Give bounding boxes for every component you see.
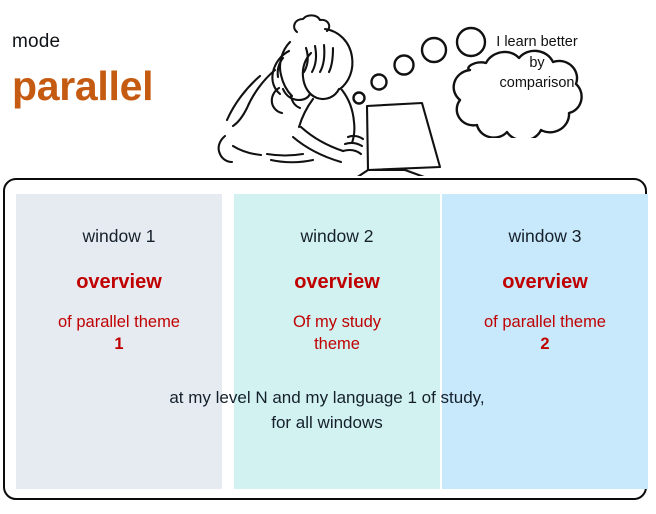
mode-label: mode [12, 32, 60, 51]
window-title-1: window 1 [16, 228, 222, 246]
window-heading-2: overview [234, 272, 440, 292]
window-subtitle-3-line-1: of parallel theme [442, 312, 648, 334]
thought-dot-4 [422, 38, 446, 62]
thought-dot-3 [395, 56, 414, 75]
window-panel-2[interactable]: window 2 overview Of my study theme [234, 194, 440, 489]
window-heading-1: overview [16, 272, 222, 292]
window-heading-3: overview [442, 272, 648, 292]
thought-bubble-line-2: by [462, 53, 612, 74]
thought-bubble-text: I learn better by comparison [462, 32, 612, 94]
window-subtitle-3: of parallel theme 2 [442, 312, 648, 356]
window-subtitle-2-line-2: theme [234, 334, 440, 356]
window-subtitle-1-line-2: 1 [16, 334, 222, 356]
thought-dot-1 [354, 93, 365, 104]
window-title-3: window 3 [442, 228, 648, 246]
thought-dot-2 [372, 75, 387, 90]
window-subtitle-3-line-2: 2 [442, 334, 648, 356]
window-subtitle-2-line-1: Of my study [234, 312, 440, 334]
window-subtitle-2: Of my study theme [234, 312, 440, 356]
mode-value: parallel [12, 66, 153, 107]
window-panel-1[interactable]: window 1 overview of parallel theme 1 [16, 194, 222, 489]
window-subtitle-1-line-1: of parallel theme [16, 312, 222, 334]
thought-bubble-line-1: I learn better [462, 32, 612, 53]
header-area: mode parallel [0, 0, 656, 178]
window-subtitle-1: of parallel theme 1 [16, 312, 222, 356]
thought-bubble-line-3: comparison [462, 73, 612, 94]
window-title-2: window 2 [234, 228, 440, 246]
window-panel-3[interactable]: window 3 overview of parallel theme 2 [442, 194, 648, 489]
windows-container: window 1 overview of parallel theme 1 wi… [3, 178, 647, 500]
